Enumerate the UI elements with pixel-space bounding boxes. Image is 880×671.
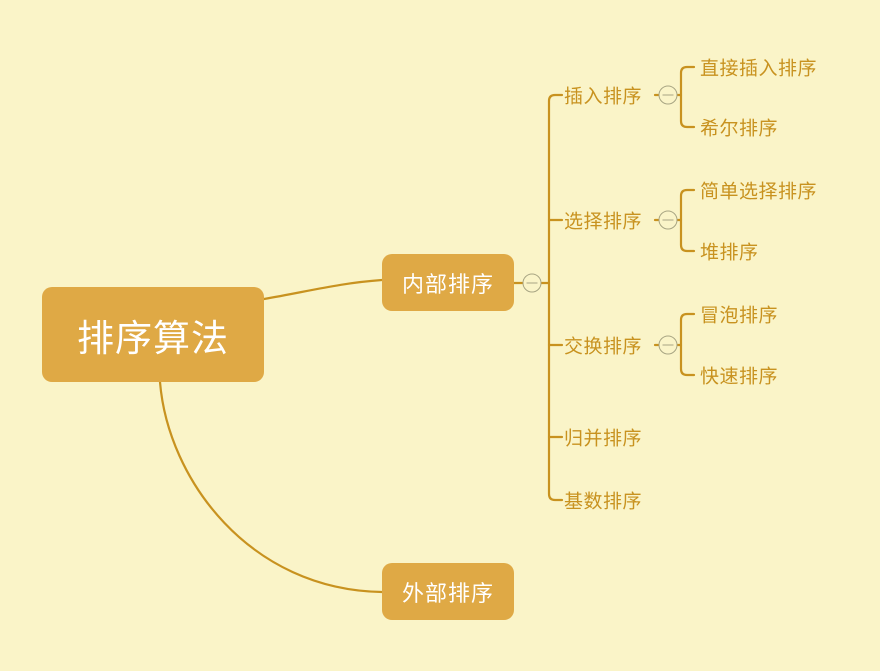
leaf-quick-sort[interactable]: 快速排序: [700, 362, 778, 389]
trunk-main: [549, 95, 562, 500]
bracket-insertion: [681, 67, 694, 127]
leaf-simple-selection-sort[interactable]: 简单选择排序: [700, 177, 817, 204]
branch-merge-sort[interactable]: 归并排序: [564, 424, 642, 451]
node-internal-sorting-label: 内部排序: [402, 267, 494, 299]
branch-radix-sort[interactable]: 基数排序: [564, 487, 642, 514]
minus-circle-icon-internal-sorting[interactable]: [523, 274, 542, 293]
mindmap-canvas: 排序算法 内部排序 外部排序 插入排序 直接插入排序 希尔排序 选择排序 简单选…: [0, 0, 880, 671]
connector-root-to-internal: [264, 280, 382, 299]
branch-exchange-sort[interactable]: 交换排序: [564, 332, 642, 359]
bracket-selection: [681, 190, 694, 251]
node-internal-sorting[interactable]: 内部排序: [382, 254, 514, 311]
root-node[interactable]: 排序算法: [42, 287, 264, 382]
node-external-sorting[interactable]: 外部排序: [382, 563, 514, 620]
branch-insertion-sort[interactable]: 插入排序: [564, 82, 642, 109]
leaf-heap-sort[interactable]: 堆排序: [700, 238, 759, 265]
connector-root-to-external: [160, 382, 382, 592]
node-external-sorting-label: 外部排序: [402, 576, 494, 608]
bracket-exchange: [681, 314, 694, 375]
minus-circle-icon-exchange-sort[interactable]: [659, 336, 678, 355]
minus-circle-icon-selection-sort[interactable]: [659, 211, 678, 230]
leaf-bubble-sort[interactable]: 冒泡排序: [700, 301, 778, 328]
branch-selection-sort[interactable]: 选择排序: [564, 207, 642, 234]
leaf-shell-sort[interactable]: 希尔排序: [700, 114, 778, 141]
leaf-direct-insertion-sort[interactable]: 直接插入排序: [700, 54, 817, 81]
minus-circle-icon-insertion-sort[interactable]: [659, 86, 678, 105]
root-node-label: 排序算法: [77, 308, 229, 362]
